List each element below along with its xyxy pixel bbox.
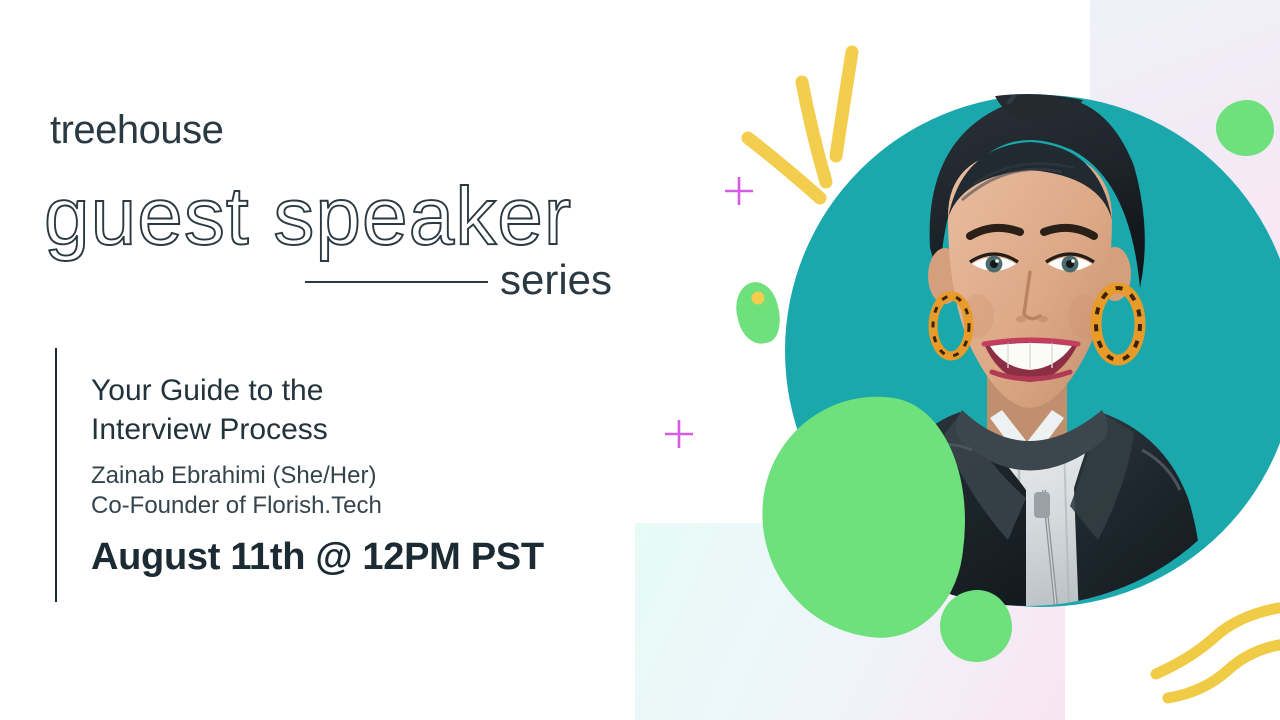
talk-title-line-1: Your Guide to the bbox=[91, 371, 521, 410]
talk-title-line-2: Interview Process bbox=[91, 410, 521, 449]
green-blob-small bbox=[730, 278, 786, 348]
green-dot-top-right bbox=[1216, 100, 1274, 156]
headline-text: guest speaker bbox=[44, 171, 572, 262]
event-datetime: August 11th @ 12PM PST bbox=[91, 536, 544, 579]
talk-title: Your Guide to the Interview Process bbox=[91, 371, 521, 449]
brand-wordmark: treehouse bbox=[50, 108, 223, 153]
green-dot-bottom bbox=[940, 590, 1012, 662]
magenta-plus-icon-upper bbox=[723, 175, 755, 207]
series-label: series bbox=[500, 256, 612, 304]
speaker-role: Co-Founder of Florish.Tech bbox=[91, 492, 382, 520]
series-rule bbox=[305, 281, 488, 283]
yellow-sparkle-icon bbox=[740, 30, 900, 210]
vertical-accent-rule bbox=[55, 348, 57, 602]
promo-slide: treehouse guest speaker series Your Guid… bbox=[0, 0, 1280, 720]
speaker-name: Zainab Ebrahimi (She/Her) bbox=[91, 462, 376, 490]
yellow-wave-icon bbox=[1150, 600, 1280, 710]
headline-guest-speaker: guest speaker bbox=[30, 158, 650, 268]
magenta-plus-icon-lower bbox=[663, 418, 695, 450]
